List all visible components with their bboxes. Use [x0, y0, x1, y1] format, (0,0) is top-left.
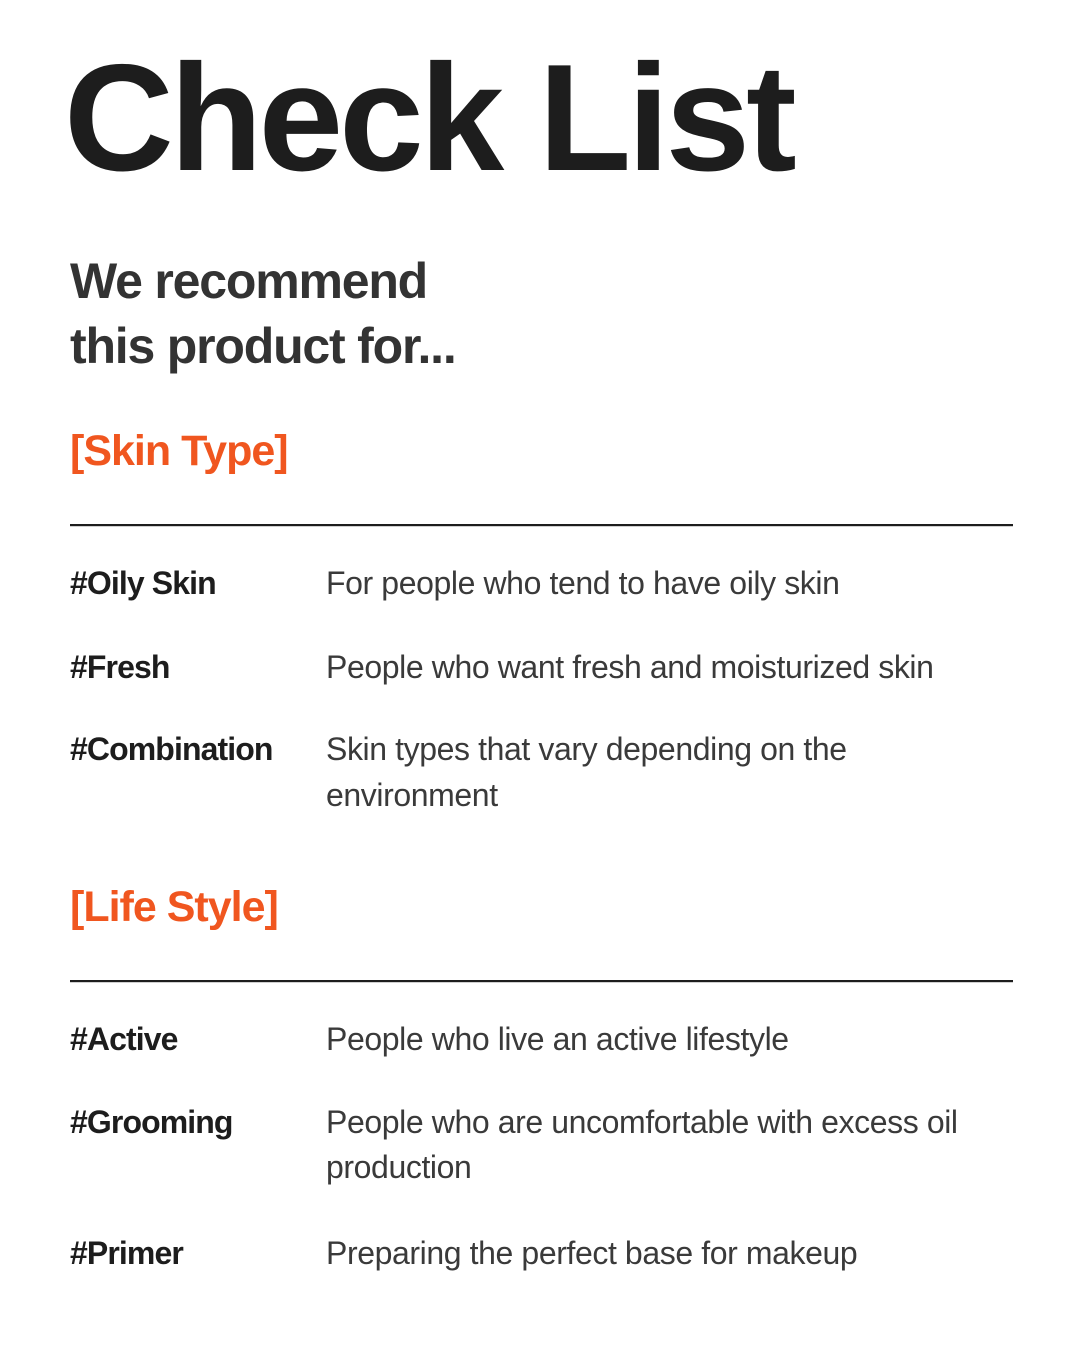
subtitle-line-1: We recommend: [70, 249, 456, 314]
section-divider-skin-type: [70, 524, 1013, 527]
page-title: Check List: [64, 42, 793, 194]
section-life-style: [Life Style] #Active People who live an …: [0, 884, 1080, 1276]
checklist-page: Check List We recommend this product for…: [0, 0, 1080, 1350]
checklist-row-oily-skin: #Oily Skin For people who tend to have o…: [70, 561, 1020, 606]
tag-description-fresh: People who want fresh and moisturized sk…: [326, 645, 1020, 690]
tag-description-oily-skin: For people who tend to have oily skin: [326, 561, 1020, 606]
section-heading-life-style: [Life Style]: [70, 884, 1080, 931]
tag-label-oily-skin: #Oily Skin: [70, 561, 326, 606]
tag-label-fresh: #Fresh: [70, 645, 326, 690]
tag-description-combination: Skin types that vary depending on the en…: [326, 727, 1020, 818]
section-heading-skin-type: [Skin Type]: [70, 428, 1080, 475]
checklist-rows-skin-type: #Oily Skin For people who tend to have o…: [0, 561, 1080, 818]
checklist-row-active: #Active People who live an active lifest…: [70, 1017, 1020, 1062]
checklist-row-combination: #Combination Skin types that vary depend…: [70, 727, 1020, 818]
subtitle-line-2: this product for...: [70, 314, 456, 379]
checklist-row-fresh: #Fresh People who want fresh and moistur…: [70, 645, 1020, 690]
section-divider-life-style: [70, 980, 1013, 983]
tag-description-active: People who live an active lifestyle: [326, 1017, 1020, 1062]
tag-description-primer: Preparing the perfect base for makeup: [326, 1231, 1020, 1276]
section-skin-type: [Skin Type] #Oily Skin For people who te…: [0, 428, 1080, 818]
tag-label-primer: #Primer: [70, 1231, 326, 1276]
tag-description-grooming: People who are uncomfortable with excess…: [326, 1100, 1020, 1191]
checklist-row-grooming: #Grooming People who are uncomfortable w…: [70, 1100, 1020, 1191]
checklist-row-primer: #Primer Preparing the perfect base for m…: [70, 1231, 1020, 1276]
page-subtitle: We recommend this product for...: [70, 249, 456, 379]
tag-label-grooming: #Grooming: [70, 1100, 326, 1145]
tag-label-combination: #Combination: [70, 727, 326, 772]
tag-label-active: #Active: [70, 1017, 326, 1062]
checklist-rows-life-style: #Active People who live an active lifest…: [0, 1017, 1080, 1276]
